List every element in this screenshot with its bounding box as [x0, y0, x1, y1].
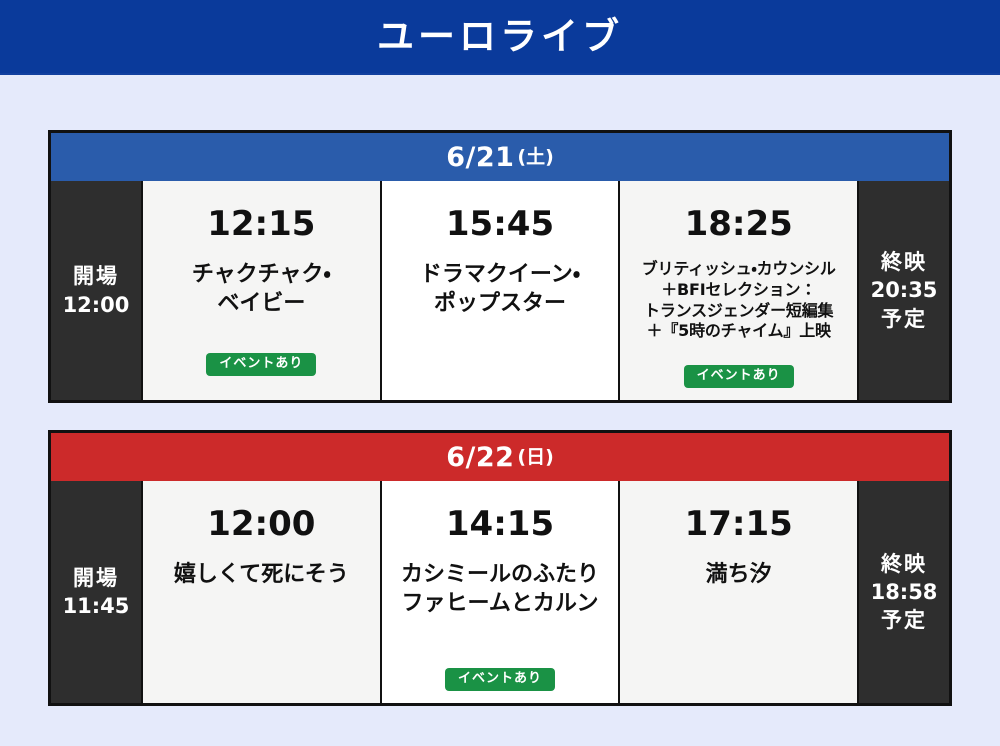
day-of-week: (日): [517, 448, 553, 467]
close-note: 予定: [881, 606, 927, 634]
screening-time: 12:00: [207, 507, 315, 541]
day-of-week: (土): [517, 148, 553, 167]
screening-cell[interactable]: 12:15 チャクチャク・ ベイビー イベントあり: [143, 181, 380, 400]
day-body-saturday: 開場 12:00 12:15 チャクチャク・ ベイビー イベントあり 15:45…: [51, 181, 949, 400]
event-badge[interactable]: イベントあり: [445, 668, 555, 691]
day-table-saturday: 6/21 (土) 開場 12:00 12:15 チャクチャク・ ベイビー イベン…: [48, 130, 952, 403]
close-time: 18:58: [871, 578, 938, 606]
close-label: 終映: [881, 248, 927, 276]
screening-title: チャクチャク・ ベイビー: [186, 261, 337, 318]
screening-title: カシミールのふたり ファヒームとカルン: [395, 561, 605, 618]
open-time-column: 開場 11:45: [51, 481, 141, 703]
open-label: 開場: [73, 564, 119, 592]
screening-time: 15:45: [446, 207, 554, 241]
event-badge[interactable]: イベントあり: [206, 353, 316, 376]
day-header-saturday: 6/21 (土): [51, 133, 949, 181]
close-label: 終映: [881, 550, 927, 578]
schedule-container: 6/21 (土) 開場 12:00 12:15 チャクチャク・ ベイビー イベン…: [0, 75, 1000, 706]
event-badge[interactable]: イベントあり: [684, 365, 794, 388]
screening-cell[interactable]: 15:45 ドラマクイーン・ ポップスター: [382, 181, 619, 400]
screening-time: 18:25: [685, 207, 793, 241]
screening-title: 嬉しくて死にそう: [168, 561, 355, 590]
screening-cell[interactable]: 14:15 カシミールのふたり ファヒームとカルン イベントあり: [382, 481, 619, 703]
close-time-column: 終映 20:35 予定: [859, 181, 949, 400]
close-note: 予定: [881, 305, 927, 333]
page-title: ユーロライブ: [377, 18, 623, 55]
open-time: 11:45: [63, 592, 130, 620]
screening-cell[interactable]: 18:25 ブリティッシュ・カウンシル ＋BFIセレクション： トランスジェンダ…: [620, 181, 857, 400]
day-date: 6/22: [446, 444, 514, 471]
screening-time: 14:15: [446, 507, 554, 541]
close-time-column: 終映 18:58 予定: [859, 481, 949, 703]
open-time-column: 開場 12:00: [51, 181, 141, 400]
day-table-sunday: 6/22 (日) 開場 11:45 12:00 嬉しくて死にそう 14:15 カ…: [48, 430, 952, 706]
day-date: 6/21: [446, 144, 514, 171]
day-body-sunday: 開場 11:45 12:00 嬉しくて死にそう 14:15 カシミールのふたり …: [51, 481, 949, 703]
close-time: 20:35: [871, 276, 938, 304]
page-header: ユーロライブ: [0, 0, 1000, 75]
screening-title: 満ち汐: [700, 561, 778, 590]
screening-time: 17:15: [685, 507, 793, 541]
screening-time: 12:15: [207, 207, 315, 241]
open-label: 開場: [73, 262, 119, 290]
open-time: 12:00: [63, 291, 130, 319]
screening-title: ブリティッシュ・カウンシル ＋BFIセレクション： トランスジェンダー短編集 ＋…: [636, 259, 842, 342]
screening-cell[interactable]: 17:15 満ち汐: [620, 481, 857, 703]
day-header-sunday: 6/22 (日): [51, 433, 949, 481]
screening-cell[interactable]: 12:00 嬉しくて死にそう: [143, 481, 380, 703]
screening-title: ドラマクイーン・ ポップスター: [414, 261, 586, 318]
